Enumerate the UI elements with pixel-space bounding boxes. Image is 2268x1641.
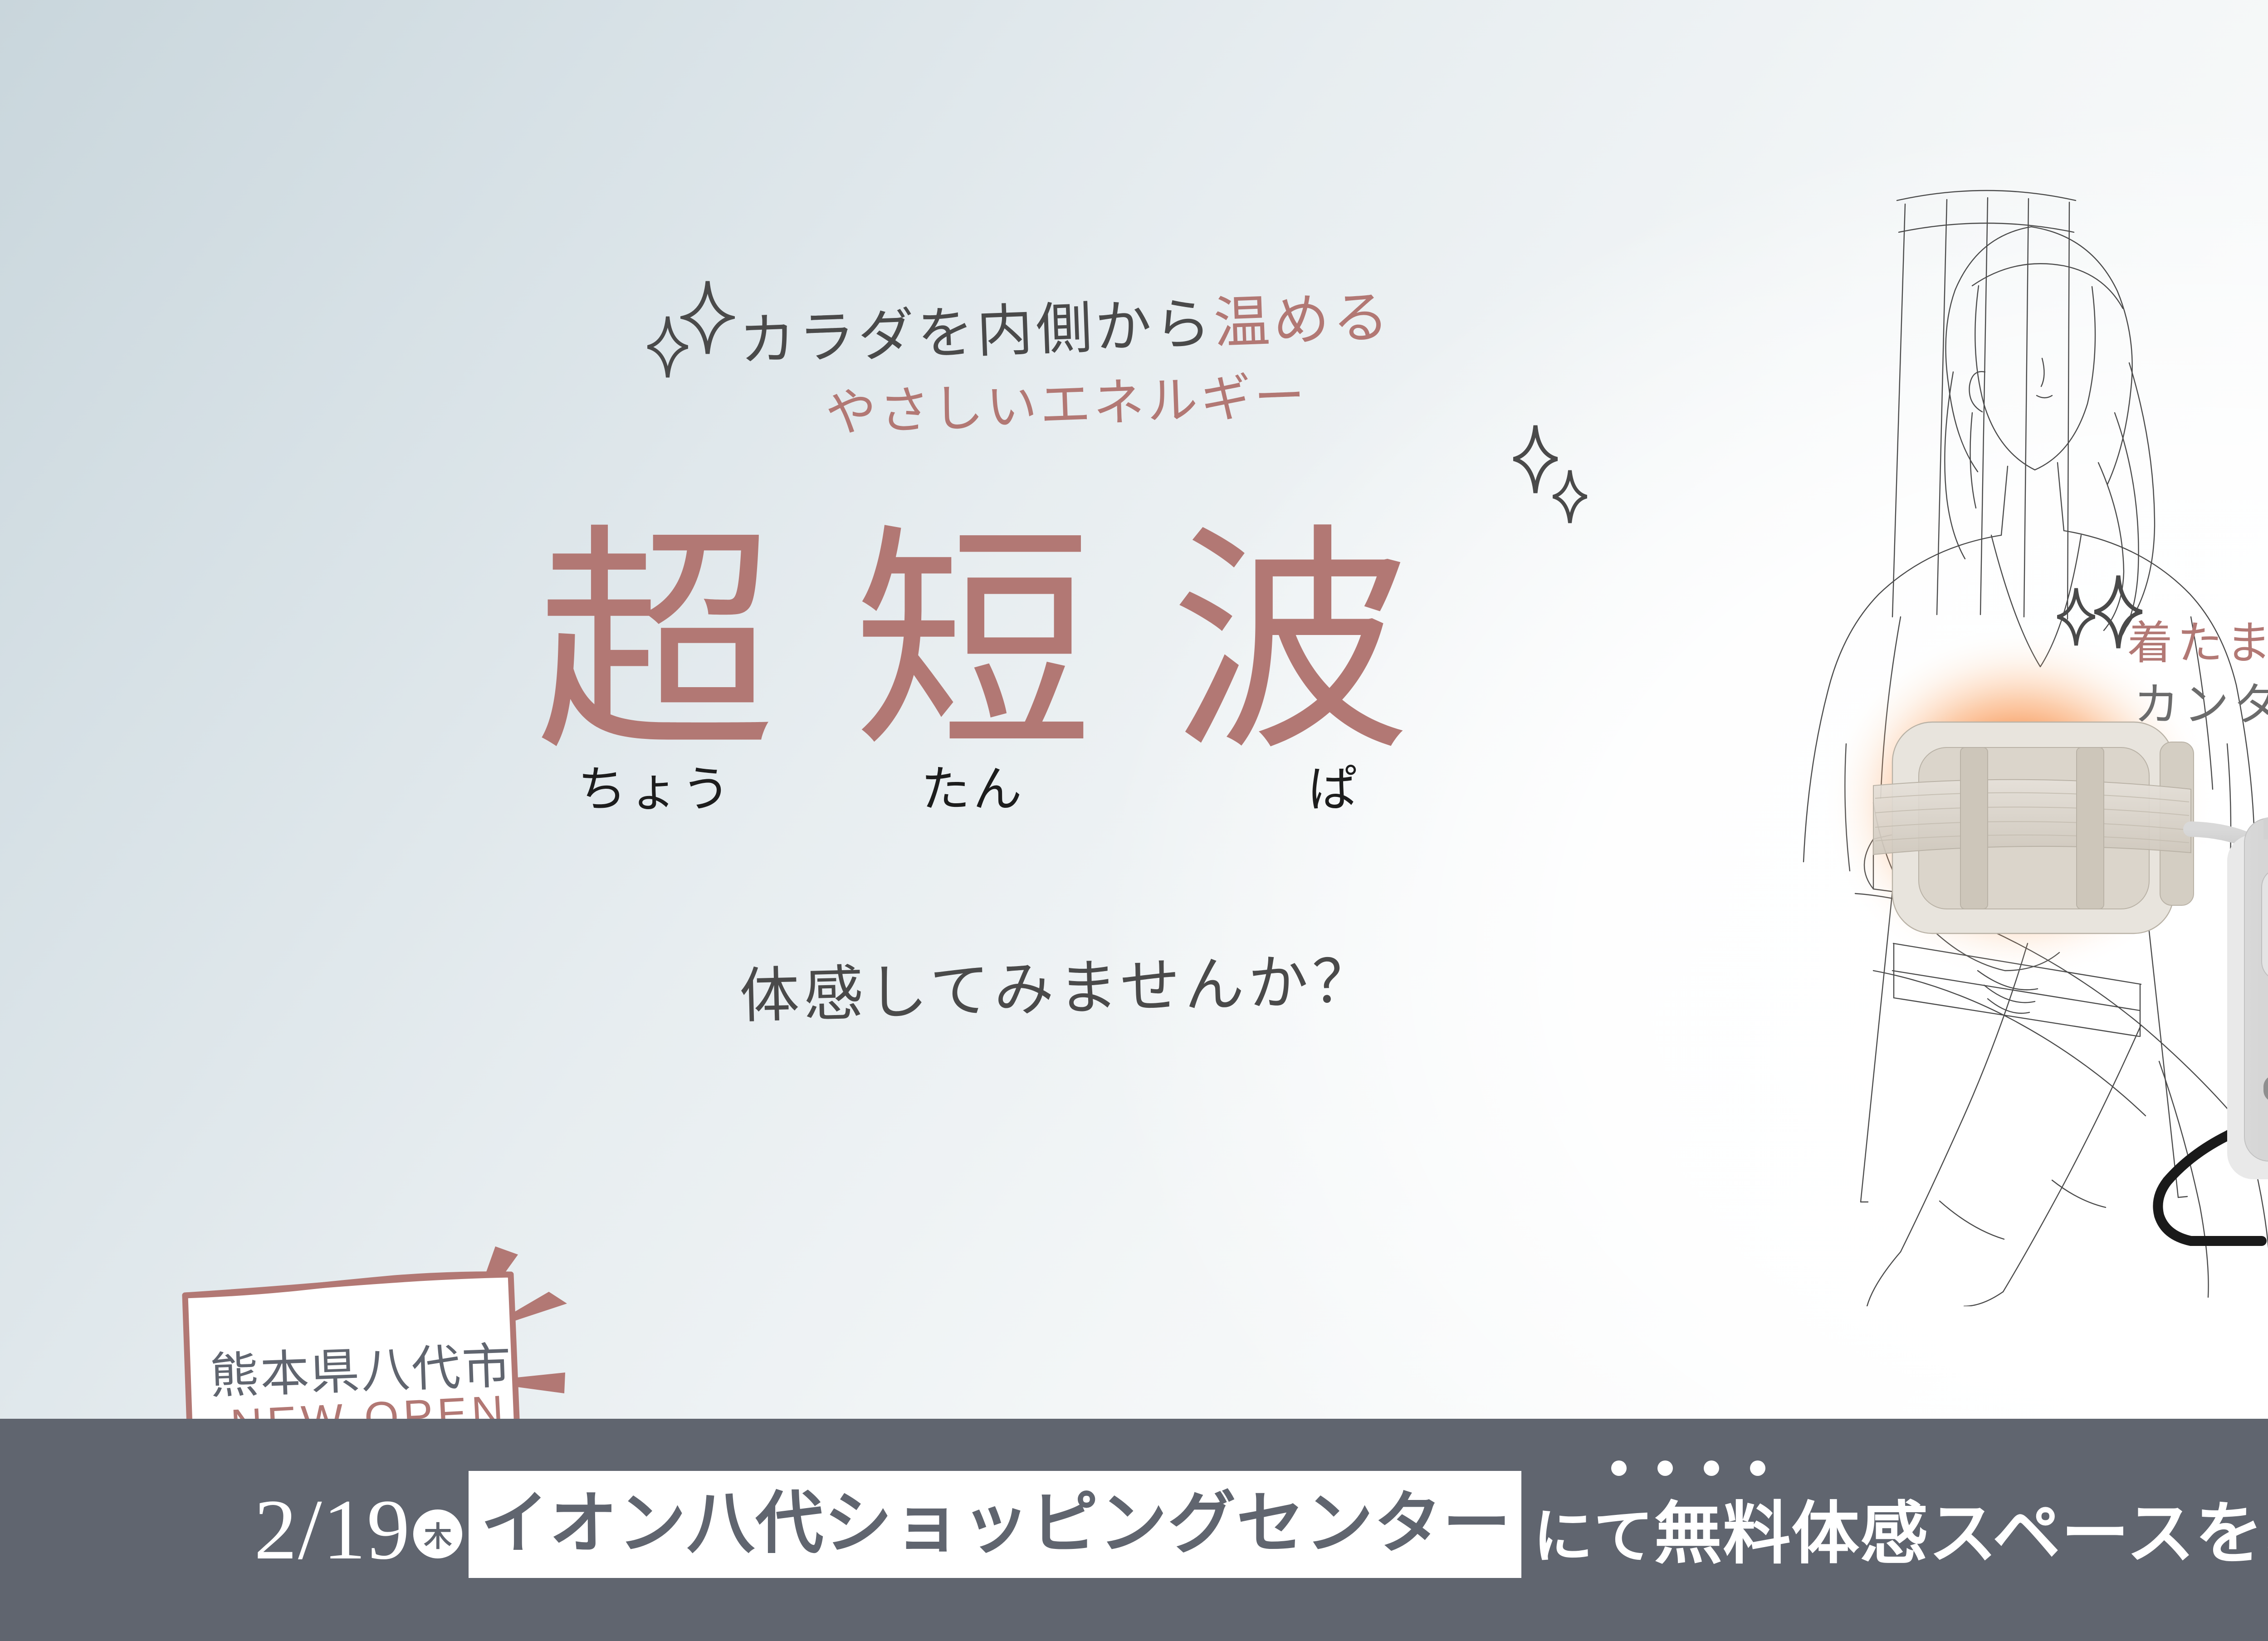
sparkle-icon bbox=[1550, 467, 1589, 526]
annotation-line-1: 着たまま bbox=[2127, 612, 2268, 674]
tagline: カラダを内側から温める やさしいエネルギー bbox=[739, 313, 1737, 439]
headline-kanji-1: 超 ちょう bbox=[535, 531, 776, 820]
poster-canvas: カラダを内側から温める やさしいエネルギー 超 ちょう 短 たん 波 ぱ 体感し… bbox=[0, 0, 2268, 1641]
emphasis-dots bbox=[1611, 1460, 1765, 1476]
headline-furigana-1: ちょう bbox=[577, 750, 733, 820]
tagline-line1-dark: カラダを内側から bbox=[738, 293, 1215, 372]
headline-kanji-3: 波 ぱ bbox=[1170, 531, 1411, 820]
headline-kanji-char-1: 超 bbox=[535, 531, 776, 762]
footer-tail-emphasis: 無料体感 bbox=[1654, 1495, 1929, 1572]
tagline-line-1: カラダを内側から温める bbox=[738, 276, 1738, 369]
date-number: 2/19 bbox=[254, 1487, 411, 1573]
footer-tail-prefix: にて bbox=[1533, 1503, 1654, 1570]
sparkle-icon bbox=[680, 277, 735, 358]
tagline-line1-accent: 温める bbox=[1212, 286, 1393, 355]
sparkle-icon bbox=[2055, 585, 2097, 649]
annotation-wearable: 着たまま カンタン bbox=[2127, 612, 2268, 736]
headline-kanji-2: 短 たん bbox=[853, 531, 1093, 820]
footer-bar: 2/19 木 イオン八代ショッピングセンター にて無料体感スペースをオープン！！ bbox=[0, 1419, 2268, 1641]
headline-furigana-2: たん bbox=[921, 750, 1025, 820]
device-unit bbox=[2227, 807, 2268, 1179]
footer-tail: にて無料体感スペースをオープン！！ bbox=[1533, 1499, 2268, 1568]
footer-tail-suffix: スペースをオープン！！ bbox=[1929, 1495, 2268, 1572]
subheadline: 体感してみませんか？ bbox=[738, 933, 1378, 1035]
day-of-week-badge: 木 bbox=[413, 1509, 462, 1558]
headline: 超 ちょう 短 たん 波 ぱ bbox=[535, 531, 1411, 820]
tagline-line-2: やさしいエネルギー bbox=[825, 355, 1738, 439]
sparkle-icon bbox=[645, 313, 690, 381]
headline-kanji-char-2: 短 bbox=[853, 531, 1093, 762]
headline-furigana-3: ぱ bbox=[1308, 750, 1360, 820]
event-date: 2/19 木 bbox=[254, 1487, 462, 1573]
annotation-line-2: カンタン bbox=[2134, 674, 2268, 736]
venue-name: イオン八代ショッピングセンター bbox=[469, 1471, 1521, 1578]
headline-kanji-char-3: 波 bbox=[1170, 531, 1411, 762]
